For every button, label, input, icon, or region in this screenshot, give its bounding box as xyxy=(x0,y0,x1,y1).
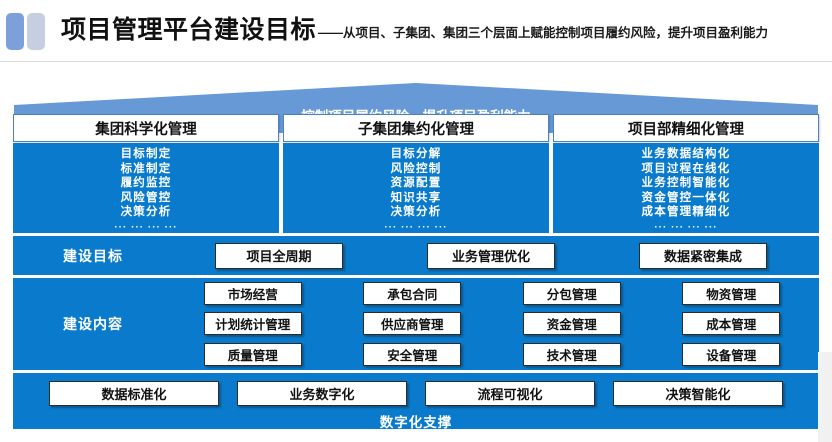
content-box[interactable]: 安全管理 xyxy=(363,343,461,366)
pillar-body-row: 目标制定 标准制定 履约监控 风险管控 决策分析 ··· ··· ··· ···… xyxy=(13,143,819,233)
goal-band: 建设目标 项目全周期 业务管理优化 数据紧密集成 xyxy=(13,236,819,275)
house-diagram: 控制项目履约风险，提升项目盈利能力 集团科学化管理 子集团集约化管理 项目部精细… xyxy=(0,62,832,432)
pillar-item: 业务数据结构化 xyxy=(642,147,731,162)
support-box[interactable]: 业务数字化 xyxy=(237,381,407,406)
page-subtitle: ——从项目、子集团、集团三个层面上赋能控制项目履约风险，提升项目盈利能力 xyxy=(318,24,768,42)
content-box[interactable]: 市场经营 xyxy=(204,282,302,305)
content-band-label: 建设内容 xyxy=(13,314,173,334)
page-header: 项目管理平台建设目标 ——从项目、子集团、集团三个层面上赋能控制项目履约风险，提… xyxy=(0,0,832,62)
pillar-item: 资源配置 xyxy=(391,176,442,191)
pillar-item: 业务控制智能化 xyxy=(642,176,731,191)
content-box[interactable]: 资金管理 xyxy=(523,312,621,335)
content-box[interactable]: 承包合同 xyxy=(363,282,461,305)
pillar-item: 决策分析 xyxy=(391,205,442,220)
pillar-item: 目标制定 xyxy=(121,147,172,162)
edge-decoration xyxy=(818,352,832,442)
page-title: 项目管理平台建设目标 xyxy=(61,13,316,47)
header-mark-secondary xyxy=(27,13,45,50)
goal-box[interactable]: 数据紧密集成 xyxy=(639,243,767,269)
content-box[interactable]: 物资管理 xyxy=(682,282,780,305)
pillar-head-subgroup[interactable]: 子集团集约化管理 xyxy=(283,114,549,142)
goal-box[interactable]: 项目全周期 xyxy=(215,243,343,269)
pillar-subgroup: 目标分解 风险控制 资源配置 知识共享 决策分析 ··· ··· ··· ··· xyxy=(283,143,549,233)
content-box[interactable]: 成本管理 xyxy=(682,312,780,335)
content-box[interactable]: 计划统计管理 xyxy=(204,312,302,335)
pillar-item: 资金管控一体化 xyxy=(642,191,731,206)
content-box[interactable]: 设备管理 xyxy=(682,343,780,366)
pillar-head-project[interactable]: 项目部精细化管理 xyxy=(553,114,819,142)
pillar-item: 成本管理精细化 xyxy=(642,205,731,220)
pillar-item: 目标分解 xyxy=(391,147,442,162)
pillar-item: 知识共享 xyxy=(391,191,442,206)
support-band-label: 数字化支撑 xyxy=(13,411,819,431)
pillar-ellipsis: ··· ··· ··· ··· xyxy=(384,221,447,235)
pillar-ellipsis: ··· ··· ··· ··· xyxy=(654,221,717,235)
pillar-ellipsis: ··· ··· ··· ··· xyxy=(114,221,177,235)
content-box[interactable]: 供应商管理 xyxy=(363,312,461,335)
goal-box-row: 项目全周期 业务管理优化 数据紧密集成 xyxy=(173,243,819,269)
support-box[interactable]: 数据标准化 xyxy=(49,381,219,406)
pillar-head-group[interactable]: 集团科学化管理 xyxy=(13,114,279,142)
pillar-group: 目标制定 标准制定 履约监控 风险管控 决策分析 ··· ··· ··· ··· xyxy=(13,143,279,233)
pillar-item: 风险管控 xyxy=(121,191,172,206)
content-box-grid: 市场经营 承包合同 分包管理 物资管理 计划统计管理 供应商管理 资金管理 成本… xyxy=(173,278,819,370)
pillar-item: 标准制定 xyxy=(121,162,172,177)
header-mark-primary xyxy=(6,13,24,50)
pillar-item: 履约监控 xyxy=(121,176,172,191)
content-box[interactable]: 分包管理 xyxy=(523,282,621,305)
pillar-item: 项目过程在线化 xyxy=(642,162,731,177)
content-box[interactable]: 质量管理 xyxy=(204,343,302,366)
support-band: 数据标准化 业务数字化 流程可视化 决策智能化 数字化支撑 xyxy=(13,373,819,429)
support-box[interactable]: 流程可视化 xyxy=(425,381,595,406)
pillar-project: 业务数据结构化 项目过程在线化 业务控制智能化 资金管控一体化 成本管理精细化 … xyxy=(553,143,819,233)
goal-band-label: 建设目标 xyxy=(13,246,173,266)
pillar-item: 风险控制 xyxy=(391,162,442,177)
pillar-item: 决策分析 xyxy=(121,205,172,220)
content-box[interactable]: 技术管理 xyxy=(523,343,621,366)
content-band: 建设内容 市场经营 承包合同 分包管理 物资管理 计划统计管理 供应商管理 资金… xyxy=(13,278,819,370)
pillar-header-row: 集团科学化管理 子集团集约化管理 项目部精细化管理 xyxy=(13,114,819,142)
support-box[interactable]: 决策智能化 xyxy=(613,381,783,406)
goal-box[interactable]: 业务管理优化 xyxy=(427,243,555,269)
header-decoration xyxy=(6,13,45,50)
support-box-row: 数据标准化 业务数字化 流程可视化 决策智能化 xyxy=(13,373,819,406)
